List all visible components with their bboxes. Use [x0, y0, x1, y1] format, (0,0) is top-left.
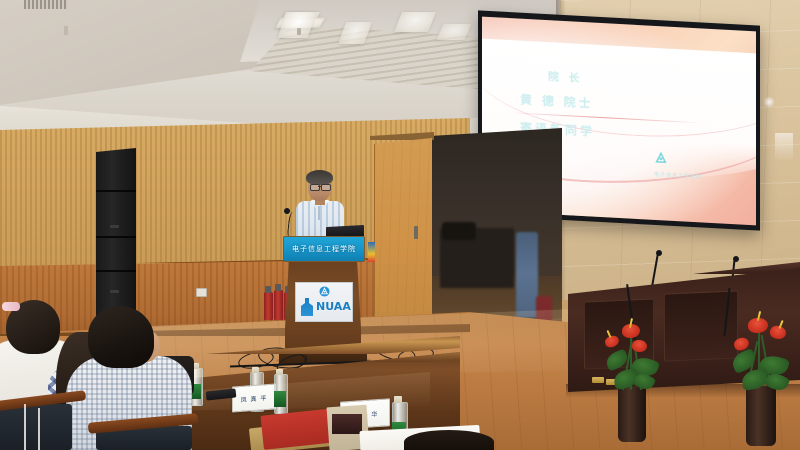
anthurium-bloom [604, 334, 621, 349]
flower-vase-left [618, 386, 646, 442]
background-chair [442, 222, 476, 240]
speaker-badge-1 [110, 225, 119, 228]
lectern-banner-text: 电子信息工程学院 [292, 244, 356, 254]
flower-vase-right [746, 386, 776, 446]
book-photo-insert [332, 414, 362, 434]
door-handle[interactable] [414, 226, 418, 239]
fire-extinguisher-2-valve [275, 284, 281, 291]
presenter-glasses-bridge [318, 186, 321, 187]
presenter-placket [318, 206, 320, 220]
person-in-doorway [516, 232, 538, 324]
name-placard-2-text: 凤 真 平 [241, 393, 268, 404]
lectern-banner: 电子信息工程学院 [283, 236, 365, 262]
lectern: 电子信息工程学院 NUAA [283, 236, 363, 362]
ceiling-vent-grille [24, 0, 68, 9]
lectern-microphone-head [284, 208, 290, 214]
fire-extinguisher-1 [264, 292, 273, 320]
speaker-badge-2 [110, 290, 119, 293]
wall-outlet [196, 288, 207, 297]
nuaa-emblem-icon [319, 286, 330, 297]
room-door[interactable] [374, 138, 433, 334]
marble-window-reflection [775, 133, 793, 161]
nuaa-wordmark: NUAA [316, 300, 351, 313]
door-sign [368, 242, 375, 262]
chair-strap [24, 404, 26, 450]
fire-extinguisher-2 [274, 290, 283, 320]
foreground-person-head [404, 430, 494, 450]
slide-logo-block: 电子信息工程学院 [654, 152, 702, 181]
flower-arrangement-right [730, 296, 800, 450]
dais-microphone-head-1 [656, 250, 662, 256]
sprinkler-head-icon [297, 28, 301, 35]
water-bottle-cap [394, 396, 402, 403]
fire-extinguisher-1-valve [265, 286, 271, 293]
ceiling-conduit [64, 26, 68, 35]
water-bottle-cap [252, 367, 259, 373]
speaker-seam-2 [96, 236, 136, 238]
name-placard-2: 凤 真 平 [232, 383, 276, 412]
water-bottle-label [274, 391, 286, 407]
speaker-seam-1 [96, 190, 136, 192]
marble-light-reflection [763, 96, 775, 108]
water-bottle-cap [276, 369, 283, 375]
speaker-seam-3 [96, 270, 136, 272]
attendee-3-hair [88, 306, 154, 368]
recycle-triangle-icon [654, 152, 668, 166]
hair-clip [2, 302, 20, 311]
flower-arrangement-left [600, 300, 672, 450]
lecture-hall-photo: 院 长 黄 德 院士 寄语新同学 电子信息工程学院 [0, 0, 800, 450]
chair-strap [38, 408, 40, 450]
presenter-hair [306, 170, 333, 185]
presenter-glasses-right [321, 184, 331, 191]
chair-back-1[interactable] [0, 404, 72, 450]
dais-microphone-head-2 [733, 256, 739, 262]
